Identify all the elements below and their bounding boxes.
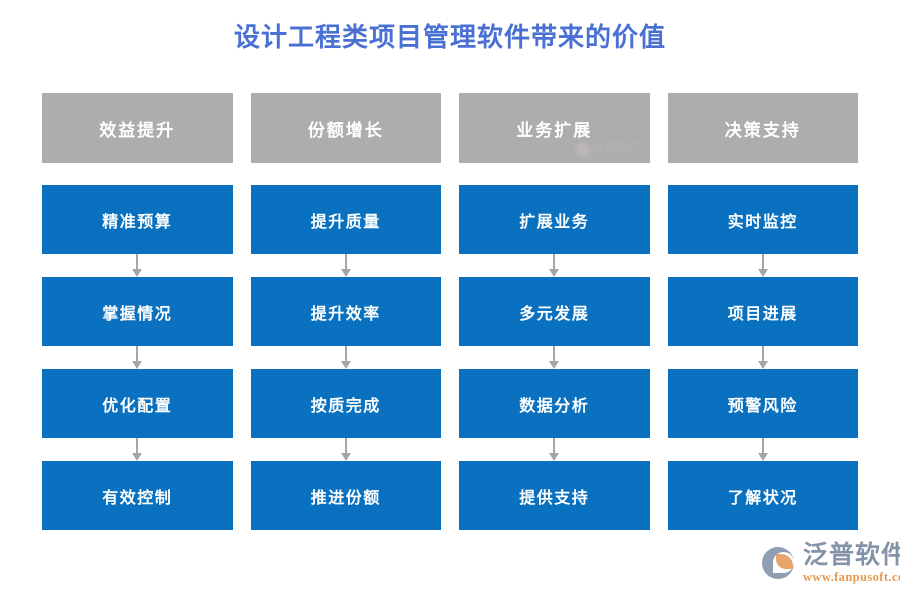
arrow-down-icon — [251, 346, 442, 369]
arrow-down-icon — [459, 254, 650, 277]
arrow-stem — [553, 346, 555, 362]
arrow-down-icon — [668, 254, 859, 277]
flow-node-label: 多元发展 — [519, 300, 589, 324]
flow-node-label: 优化配置 — [102, 392, 172, 416]
flow-node[interactable]: 提升质量 — [251, 185, 442, 254]
flow-node-label: 推进份额 — [311, 484, 381, 508]
flow-node-label: 了解状况 — [728, 484, 798, 508]
arrow-down-icon — [251, 254, 442, 277]
column-header-benefit: 效益提升 — [42, 93, 233, 163]
arrow-head — [341, 453, 351, 461]
flow-node-label: 提升效率 — [311, 300, 381, 324]
column-header-label: 业务扩展 — [516, 116, 592, 141]
arrow-head — [549, 361, 559, 369]
flow-column-share-growth: 份额增长 提升质量 提升效率 按质完成 推进份额 — [251, 93, 442, 530]
arrow-down-icon — [251, 438, 442, 461]
arrow-head — [341, 361, 351, 369]
flow-node-label: 有效控制 — [102, 484, 172, 508]
flow-node-label: 掌握情况 — [102, 300, 172, 324]
arrow-down-icon — [459, 346, 650, 369]
flow-column-decision-support: 决策支持 实时监控 项目进展 预警风险 了解状况 — [668, 93, 859, 530]
arrow-down-icon — [668, 346, 859, 369]
arrow-head — [758, 361, 768, 369]
watermark-text: 泛普软件 FANPU SOFTWARE — [594, 142, 644, 159]
column-header-business-expansion: 业务扩展 泛普软件 FANPU SOFTWARE — [459, 93, 650, 163]
arrow-head — [758, 453, 768, 461]
arrow-head — [549, 269, 559, 277]
flow-node[interactable]: 按质完成 — [251, 369, 442, 438]
flow-column-business-expansion: 业务扩展 泛普软件 FANPU SOFTWARE 扩展业务 多元发展 — [459, 93, 650, 530]
arrow-head — [341, 269, 351, 277]
flow-node-label: 实时监控 — [728, 208, 798, 232]
column-header-label: 决策支持 — [725, 116, 801, 141]
arrow-stem — [762, 438, 764, 454]
flow-node[interactable]: 优化配置 — [42, 369, 233, 438]
header-gap — [668, 163, 859, 185]
flow-node[interactable]: 实时监控 — [668, 185, 859, 254]
flow-node-label: 提升质量 — [311, 208, 381, 232]
header-gap — [42, 163, 233, 185]
brand-logo: 泛普软件 www.fanpusoft.com — [762, 543, 900, 584]
flow-node[interactable]: 推进份额 — [251, 461, 442, 530]
arrow-stem — [553, 438, 555, 454]
value-flow-diagram: 效益提升 精准预算 掌握情况 优化配置 有效控制 份额增长 — [42, 93, 858, 530]
column-header-label: 效益提升 — [99, 116, 175, 141]
column-header-share-growth: 份额增长 — [251, 93, 442, 163]
arrow-stem — [553, 254, 555, 270]
flow-node[interactable]: 提供支持 — [459, 461, 650, 530]
header-gap — [251, 163, 442, 185]
watermark-name-en: FANPU SOFTWARE — [594, 154, 644, 159]
flow-node[interactable]: 提升效率 — [251, 277, 442, 346]
arrow-stem — [136, 254, 138, 270]
arrow-stem — [345, 438, 347, 454]
flow-node[interactable]: 了解状况 — [668, 461, 859, 530]
flow-node[interactable]: 有效控制 — [42, 461, 233, 530]
flow-node[interactable]: 预警风险 — [668, 369, 859, 438]
column-header-label: 份额增长 — [308, 116, 384, 141]
arrow-head — [549, 453, 559, 461]
watermark-logo: 泛普软件 FANPU SOFTWARE — [574, 142, 644, 159]
flow-node[interactable]: 掌握情况 — [42, 277, 233, 346]
arrow-stem — [345, 346, 347, 362]
arrow-down-icon — [668, 438, 859, 461]
arrow-stem — [762, 346, 764, 362]
flow-node[interactable]: 扩展业务 — [459, 185, 650, 254]
arrow-head — [758, 269, 768, 277]
flow-node[interactable]: 多元发展 — [459, 277, 650, 346]
watermark-mark-icon — [574, 142, 591, 159]
flow-node[interactable]: 项目进展 — [668, 277, 859, 346]
brand-text: 泛普软件 www.fanpusoft.com — [803, 543, 900, 584]
flow-node-label: 提供支持 — [519, 484, 589, 508]
arrow-stem — [762, 254, 764, 270]
watermark-name: 泛普软件 — [594, 142, 644, 153]
flow-node[interactable]: 精准预算 — [42, 185, 233, 254]
flow-node-label: 按质完成 — [311, 392, 381, 416]
flow-node[interactable]: 数据分析 — [459, 369, 650, 438]
arrow-stem — [345, 254, 347, 270]
arrow-down-icon — [42, 346, 233, 369]
fanpu-logo-icon — [762, 546, 798, 580]
header-gap — [459, 163, 650, 185]
arrow-head — [132, 453, 142, 461]
flow-node-label: 数据分析 — [519, 392, 589, 416]
arrow-stem — [136, 438, 138, 454]
arrow-down-icon — [42, 254, 233, 277]
flow-column-benefit: 效益提升 精准预算 掌握情况 优化配置 有效控制 — [42, 93, 233, 530]
page-title: 设计工程类项目管理软件带来的价值 — [0, 20, 900, 54]
flow-node-label: 精准预算 — [102, 208, 172, 232]
arrow-down-icon — [459, 438, 650, 461]
flow-node-label: 项目进展 — [728, 300, 798, 324]
arrow-stem — [136, 346, 138, 362]
brand-url: www.fanpusoft.com — [803, 571, 900, 584]
flow-node-label: 预警风险 — [728, 392, 798, 416]
brand-name: 泛普软件 — [803, 543, 900, 568]
flow-node-label: 扩展业务 — [519, 208, 589, 232]
arrow-down-icon — [42, 438, 233, 461]
arrow-head — [132, 269, 142, 277]
column-header-decision-support: 决策支持 — [668, 93, 859, 163]
arrow-head — [132, 361, 142, 369]
